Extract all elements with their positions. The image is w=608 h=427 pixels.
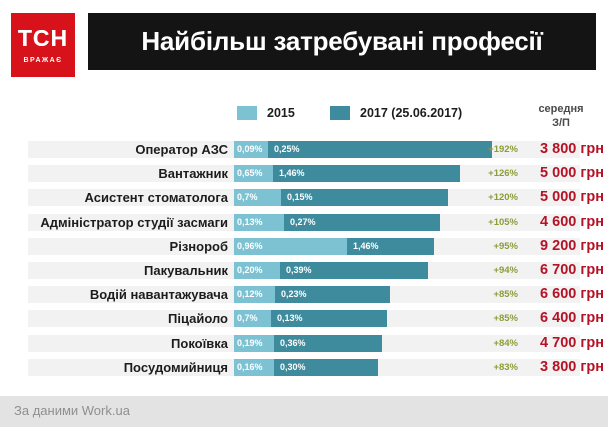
average-salary: 6 700 грн <box>522 260 604 280</box>
legend-label-2015: 2015 <box>267 106 295 120</box>
growth-percent: +94% <box>478 262 518 279</box>
table-row: Посудомийниця0,16%0,30%+83%3 800 грн <box>0 356 608 380</box>
table-row: Покоївка0,19%0,36%+84%4 700 грн <box>0 332 608 356</box>
average-salary: 4 600 грн <box>522 212 604 232</box>
tsn-logo: ТСН ВРАЖАЄ <box>11 13 75 77</box>
avg-salary-header-line2: З/П <box>518 117 604 131</box>
value-label-2015: 0,20% <box>237 262 263 279</box>
logo-tagline: ВРАЖАЄ <box>24 57 63 64</box>
table-row: Піцайоло0,7%0,13%+85%6 400 грн <box>0 307 608 331</box>
value-label-2015: 0,16% <box>237 359 263 376</box>
profession-label: Вантажник <box>28 165 228 182</box>
bar-group: 0,7%0,15% <box>234 189 448 206</box>
value-label-2015: 0,7% <box>237 189 258 206</box>
value-label-2015: 0,65% <box>237 165 263 182</box>
table-row: Оператор АЗС0,09%0,25%+192%3 800 грн <box>0 138 608 162</box>
avg-salary-column-header: середня З/П <box>518 103 604 131</box>
value-label-2017: 0,25% <box>274 141 300 158</box>
page-header: ТСН ВРАЖАЄ Найбільш затребувані професії <box>0 0 608 92</box>
chart-legend: 2015 2017 (25.06.2017) середня З/П <box>0 100 608 136</box>
avg-salary-header-line1: середня <box>518 103 604 117</box>
table-row: Пакувальник0,20%0,39%+94%6 700 грн <box>0 259 608 283</box>
profession-label: Адміністратор студії засмаги <box>28 214 228 231</box>
average-salary: 3 800 грн <box>522 139 604 159</box>
growth-percent: +84% <box>478 335 518 352</box>
growth-percent: +85% <box>478 310 518 327</box>
profession-label: Водій навантажувача <box>28 286 228 303</box>
page-footer: За даними Work.ua <box>0 396 608 427</box>
value-label-2017: 0,27% <box>290 214 316 231</box>
value-label-2017: 1,46% <box>279 165 305 182</box>
legend-label-2017: 2017 (25.06.2017) <box>360 106 462 120</box>
bar-group: 0,65%1,46% <box>234 165 460 182</box>
value-label-2017: 0,15% <box>287 189 313 206</box>
growth-percent: +83% <box>478 359 518 376</box>
value-label-2017: 0,39% <box>286 262 312 279</box>
growth-percent: +192% <box>478 141 518 158</box>
growth-percent: +85% <box>478 286 518 303</box>
value-label-2015: 0,19% <box>237 335 263 352</box>
legend-swatch-2015-icon <box>237 106 257 120</box>
average-salary: 6 600 грн <box>522 284 604 304</box>
growth-percent: +105% <box>478 214 518 231</box>
page-title: Найбільш затребувані професії <box>141 26 542 57</box>
bar-group: 0,19%0,36% <box>234 335 382 352</box>
average-salary: 5 000 грн <box>522 163 604 183</box>
average-salary: 4 700 грн <box>522 333 604 353</box>
bar-group: 0,09%0,25% <box>234 141 492 158</box>
value-label-2015: 0,13% <box>237 214 263 231</box>
average-salary: 5 000 грн <box>522 187 604 207</box>
value-label-2017: 0,13% <box>277 310 303 327</box>
bar-group: 0,7%0,13% <box>234 310 387 327</box>
growth-percent: +120% <box>478 189 518 206</box>
profession-label: Асистент стоматолога <box>28 189 228 206</box>
title-bar: Найбільш затребувані професії <box>88 13 596 70</box>
source-attribution: За даними Work.ua <box>14 403 130 418</box>
value-label-2015: 0,7% <box>237 310 258 327</box>
table-row: Асистент стоматолога0,7%0,15%+120%5 000 … <box>0 186 608 210</box>
legend-item-2017: 2017 (25.06.2017) <box>330 106 462 120</box>
chart-rows: Оператор АЗС0,09%0,25%+192%3 800 грнВант… <box>0 138 608 380</box>
value-label-2017: 0,36% <box>280 335 306 352</box>
value-label-2017: 0,30% <box>280 359 306 376</box>
legend-item-2015: 2015 <box>237 106 295 120</box>
bar-group: 0,96%1,46% <box>234 238 434 255</box>
profession-label: Пакувальник <box>28 262 228 279</box>
profession-label: Покоївка <box>28 335 228 352</box>
growth-percent: +126% <box>478 165 518 182</box>
table-row: Вантажник0,65%1,46%+126%5 000 грн <box>0 162 608 186</box>
bar-group: 0,16%0,30% <box>234 359 378 376</box>
table-row: Адміністратор студії засмаги0,13%0,27%+1… <box>0 211 608 235</box>
value-label-2015: 0,09% <box>237 141 263 158</box>
value-label-2017: 1,46% <box>353 238 379 255</box>
value-label-2015: 0,12% <box>237 286 263 303</box>
bar-group: 0,12%0,23% <box>234 286 390 303</box>
logo-wordmark: ТСН <box>18 27 68 50</box>
value-label-2017: 0,23% <box>281 286 307 303</box>
legend-swatch-2017-icon <box>330 106 350 120</box>
profession-label: Піцайоло <box>28 310 228 327</box>
bar-group: 0,20%0,39% <box>234 262 428 279</box>
bar-group: 0,13%0,27% <box>234 214 440 231</box>
table-row: Різнороб0,96%1,46%+95%9 200 грн <box>0 235 608 259</box>
average-salary: 6 400 грн <box>522 308 604 328</box>
profession-label: Посудомийниця <box>28 359 228 376</box>
average-salary: 9 200 грн <box>522 236 604 256</box>
growth-percent: +95% <box>478 238 518 255</box>
average-salary: 3 800 грн <box>522 357 604 377</box>
profession-label: Оператор АЗС <box>28 141 228 158</box>
bar-segment-2017 <box>234 141 492 158</box>
profession-label: Різнороб <box>28 238 228 255</box>
table-row: Водій навантажувача0,12%0,23%+85%6 600 г… <box>0 283 608 307</box>
value-label-2015: 0,96% <box>237 238 263 255</box>
